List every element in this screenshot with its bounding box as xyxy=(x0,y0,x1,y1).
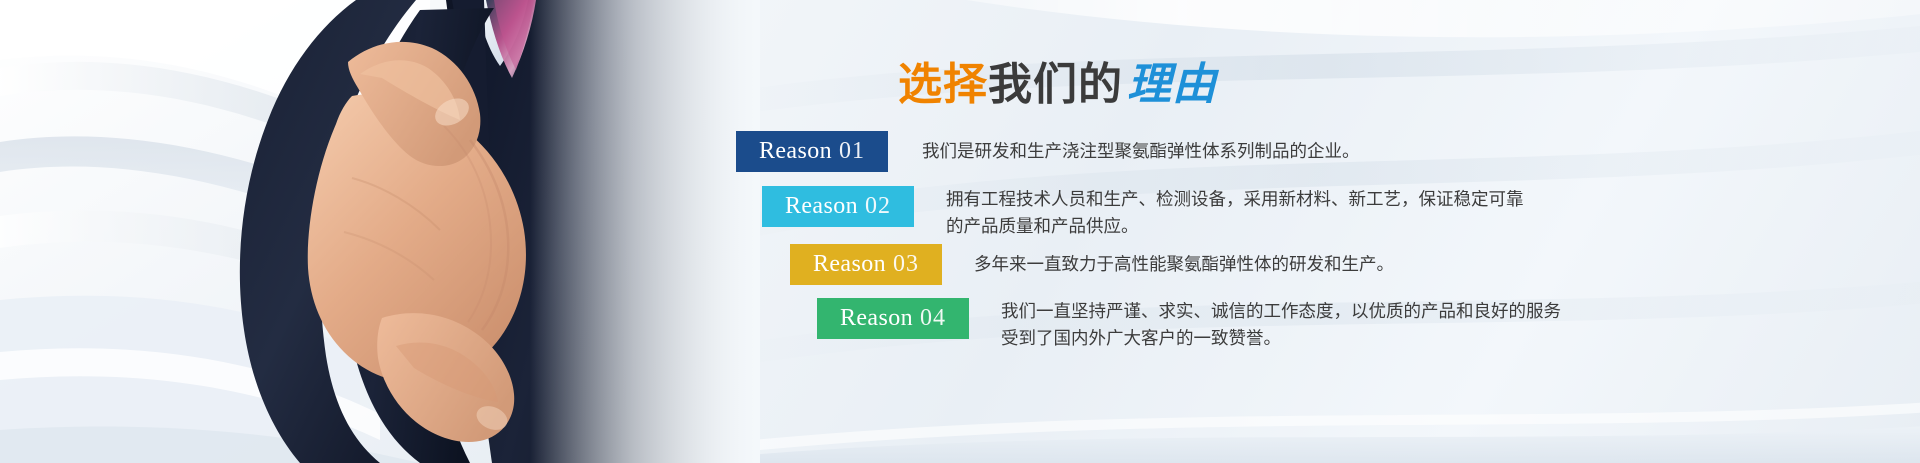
reason-badge-number: 03 xyxy=(886,251,919,277)
reason-badge-03[interactable]: Reason03 xyxy=(790,244,942,285)
reason-badge-02[interactable]: Reason02 xyxy=(762,186,914,227)
reason-item-2: Reason02 拥有工程技术人员和生产、检测设备，采用新材料、新工艺，保证稳定… xyxy=(762,186,1524,241)
reason-text-line: 多年来一直致力于高性能聚氨酯弹性体的研发和生产。 xyxy=(974,252,1394,279)
why-choose-us-banner: 选择我们的理由 Reason01 我们是研发和生产浇注型聚氨酯弹性体系列制品的企… xyxy=(0,0,1920,463)
reason-description-1: 我们是研发和生产浇注型聚氨酯弹性体系列制品的企业。 xyxy=(922,131,1360,166)
reason-item-4: Reason04 我们一直坚持严谨、求实、诚信的工作态度，以优质的产品和良好的服… xyxy=(817,298,1561,353)
reason-badge-01[interactable]: Reason01 xyxy=(736,131,888,172)
reason-badge-04[interactable]: Reason04 xyxy=(817,298,969,339)
reason-description-3: 多年来一直致力于高性能聚氨酯弹性体的研发和生产。 xyxy=(974,244,1394,279)
reason-badge-label: Reason xyxy=(840,305,913,331)
reason-description-2: 拥有工程技术人员和生产、检测设备，采用新材料、新工艺，保证稳定可靠 的产品质量和… xyxy=(946,186,1524,241)
reason-badge-label: Reason xyxy=(785,193,858,219)
reason-badge-number: 04 xyxy=(913,305,946,331)
reason-text-line: 我们一直坚持严谨、求实、诚信的工作态度，以优质的产品和良好的服务 xyxy=(1001,299,1561,326)
reason-badge-label: Reason xyxy=(759,138,832,164)
reason-list: Reason01 我们是研发和生产浇注型聚氨酯弹性体系列制品的企业。 Reaso… xyxy=(0,0,1920,463)
reason-text-line: 的产品质量和产品供应。 xyxy=(946,214,1524,241)
reason-badge-number: 02 xyxy=(858,193,891,219)
reason-description-4: 我们一直坚持严谨、求实、诚信的工作态度，以优质的产品和良好的服务 受到了国内外广… xyxy=(1001,298,1561,353)
reason-badge-label: Reason xyxy=(813,251,886,277)
reason-text-line: 我们是研发和生产浇注型聚氨酯弹性体系列制品的企业。 xyxy=(922,139,1360,166)
reason-item-1: Reason01 我们是研发和生产浇注型聚氨酯弹性体系列制品的企业。 xyxy=(736,131,1360,172)
reason-text-line: 受到了国内外广大客户的一致赞誉。 xyxy=(1001,326,1561,353)
banner-content: 选择我们的理由 Reason01 我们是研发和生产浇注型聚氨酯弹性体系列制品的企… xyxy=(0,0,1920,463)
reason-text-line: 拥有工程技术人员和生产、检测设备，采用新材料、新工艺，保证稳定可靠 xyxy=(946,187,1524,214)
reason-badge-number: 01 xyxy=(832,138,865,164)
reason-item-3: Reason03 多年来一直致力于高性能聚氨酯弹性体的研发和生产。 xyxy=(790,244,1394,285)
